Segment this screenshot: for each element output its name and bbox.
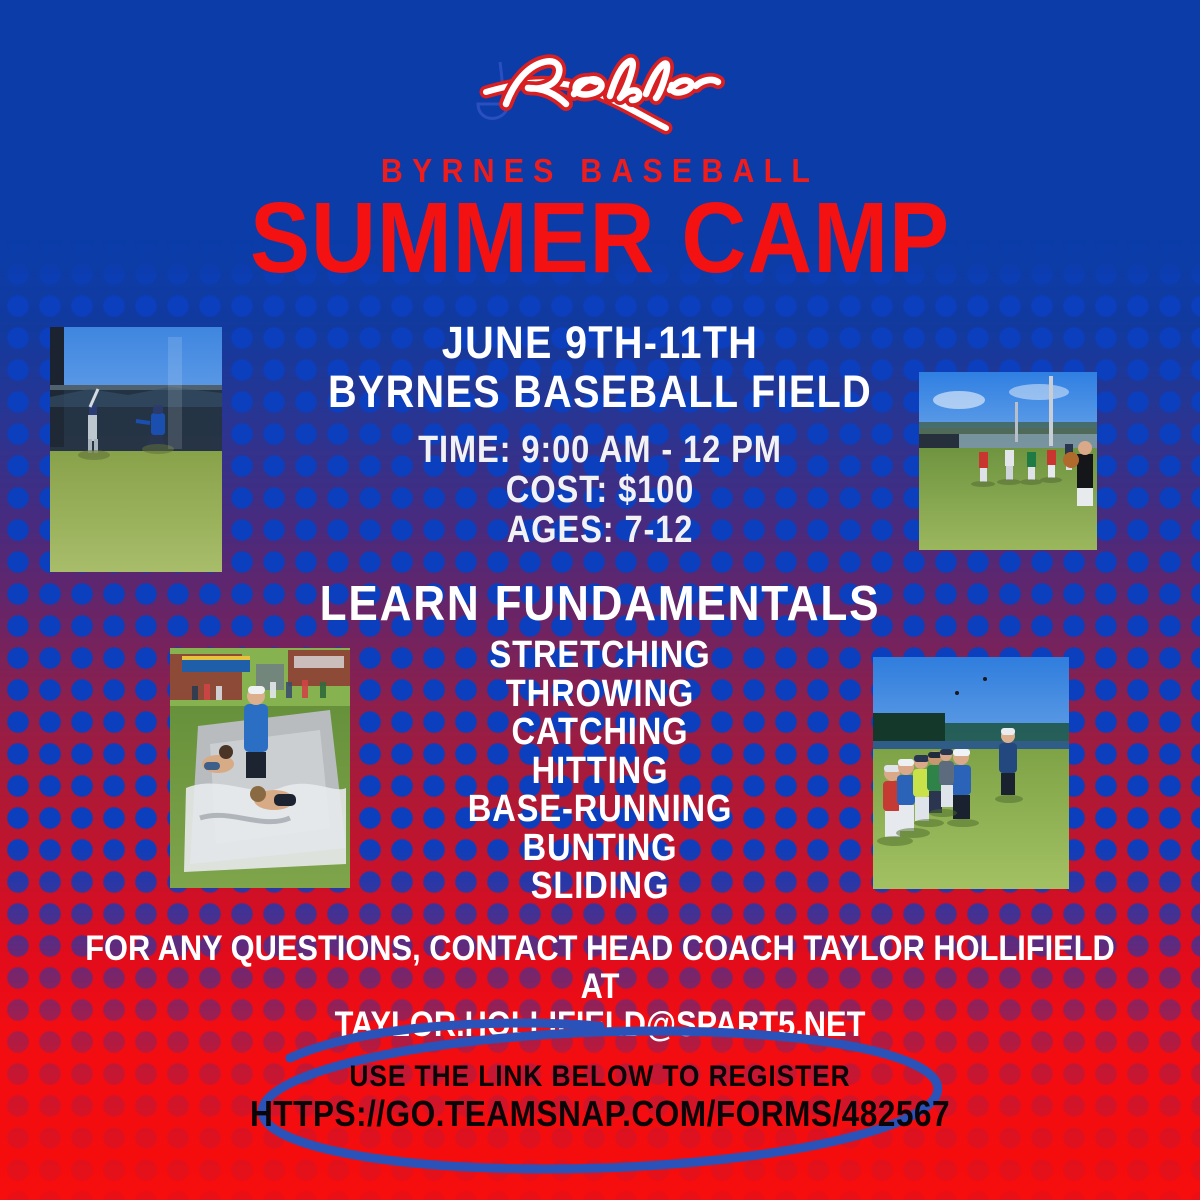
registration-block: USE THE LINK BELOW TO REGISTER HTTPS://G…: [0, 1060, 1200, 1134]
skill-item: HITTING: [84, 752, 1116, 791]
camp-details-block: TIME: 9:00 AM - 12 PM COST: $100 AGES: 7…: [84, 430, 1116, 550]
skill-item: THROWING: [84, 675, 1116, 714]
summer-camp-flyer: BYRNES BASEBALL SUMMER CAMP: [0, 0, 1200, 1200]
detail-ages: AGES: 7-12: [84, 510, 1116, 550]
skill-item: STRETCHING: [84, 636, 1116, 675]
register-prompt: USE THE LINK BELOW TO REGISTER: [72, 1060, 1128, 1094]
location-line: BYRNES BASEBALL FIELD: [72, 367, 1128, 416]
contact-line: FOR ANY QUESTIONS, CONTACT HEAD COACH TA…: [72, 930, 1128, 1006]
skill-item: BUNTING: [84, 829, 1116, 868]
date-line: JUNE 9TH-11TH: [72, 318, 1128, 367]
skill-item: CATCHING: [84, 713, 1116, 752]
rebels-logo: [470, 42, 730, 146]
detail-time: TIME: 9:00 AM - 12 PM: [84, 430, 1116, 470]
date-location-block: JUNE 9TH-11TH BYRNES BASEBALL FIELD: [72, 318, 1128, 416]
skill-item: BASE-RUNNING: [84, 790, 1116, 829]
detail-cost: COST: $100: [84, 470, 1116, 510]
skills-list: STRETCHING THROWING CATCHING HITTING BAS…: [84, 636, 1116, 906]
page-title: SUMMER CAMP: [60, 186, 1140, 290]
learn-fundamentals-heading: LEARN FUNDAMENTALS: [60, 576, 1140, 632]
skill-item: SLIDING: [84, 867, 1116, 906]
register-url[interactable]: HTTPS://GO.TEAMSNAP.COM/FORMS/482567: [72, 1094, 1128, 1134]
